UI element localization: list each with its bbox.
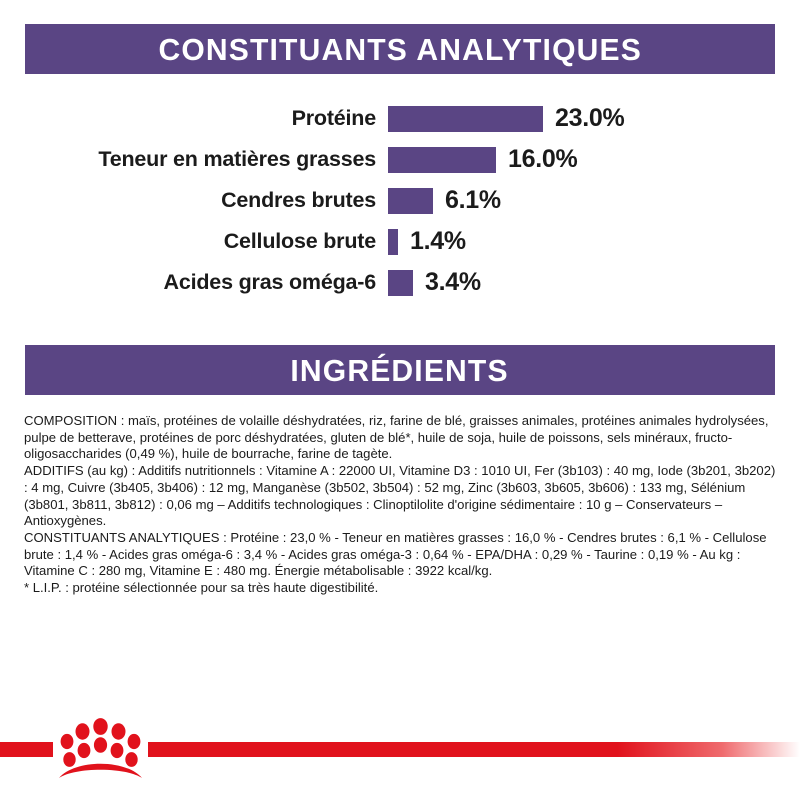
section-header-analytical-constituents: CONSTITUANTS ANALYTIQUES (25, 24, 775, 74)
chart-bar-wrapper: 23.0% (388, 104, 800, 133)
section-header-ingredients: INGRÉDIENTS (25, 345, 775, 395)
chart-row-value: 1.4% (398, 227, 466, 256)
chart-row-label: Cendres brutes (0, 188, 388, 213)
chart-row-value: 3.4% (413, 268, 481, 297)
chart-row-value: 23.0% (543, 104, 624, 133)
chart-row-label: Cellulose brute (0, 229, 388, 254)
product-label-page: CONSTITUANTS ANALYTIQUES Protéine23.0%Te… (0, 0, 800, 800)
chart-row-label: Teneur en matières grasses (0, 147, 388, 172)
footer-rule-left (0, 742, 53, 757)
brand-footer (0, 696, 800, 800)
chart-bar-wrapper: 6.1% (388, 186, 800, 215)
composition-paragraph: ADDITIFS (au kg) : Additifs nutritionnel… (24, 463, 780, 530)
chart-bar-wrapper: 3.4% (388, 268, 800, 297)
chart-row: Acides gras oméga-63.4% (0, 262, 800, 303)
chart-row: Protéine23.0% (0, 98, 800, 139)
chart-bar-wrapper: 1.4% (388, 227, 800, 256)
composition-paragraph: * L.I.P. : protéine sélectionnée pour sa… (24, 580, 780, 597)
chart-bar (388, 106, 543, 132)
chart-row-value: 16.0% (496, 145, 577, 174)
chart-bar-wrapper: 16.0% (388, 145, 800, 174)
composition-paragraph: COMPOSITION : maïs, protéines de volaill… (24, 413, 780, 463)
ingredients-title: INGRÉDIENTS (291, 355, 509, 386)
chart-row-value: 6.1% (433, 186, 501, 215)
analytical-constituents-chart: Protéine23.0%Teneur en matières grasses1… (0, 98, 800, 303)
royal-canin-crown-icon (53, 712, 148, 784)
chart-row-label: Acides gras oméga-6 (0, 270, 388, 295)
chart-bar (388, 270, 413, 296)
chart-row: Teneur en matières grasses16.0% (0, 139, 800, 180)
analytical-constituents-title: CONSTITUANTS ANALYTIQUES (158, 34, 641, 65)
chart-row: Cellulose brute1.4% (0, 221, 800, 262)
composition-text-block: COMPOSITION : maïs, protéines de volaill… (24, 413, 780, 597)
chart-row-label: Protéine (0, 106, 388, 131)
composition-paragraph: CONSTITUANTS ANALYTIQUES : Protéine : 23… (24, 530, 780, 580)
chart-bar (388, 147, 496, 173)
footer-rule-right (148, 742, 800, 757)
chart-bar (388, 188, 433, 214)
chart-bar (388, 229, 398, 255)
chart-row: Cendres brutes6.1% (0, 180, 800, 221)
